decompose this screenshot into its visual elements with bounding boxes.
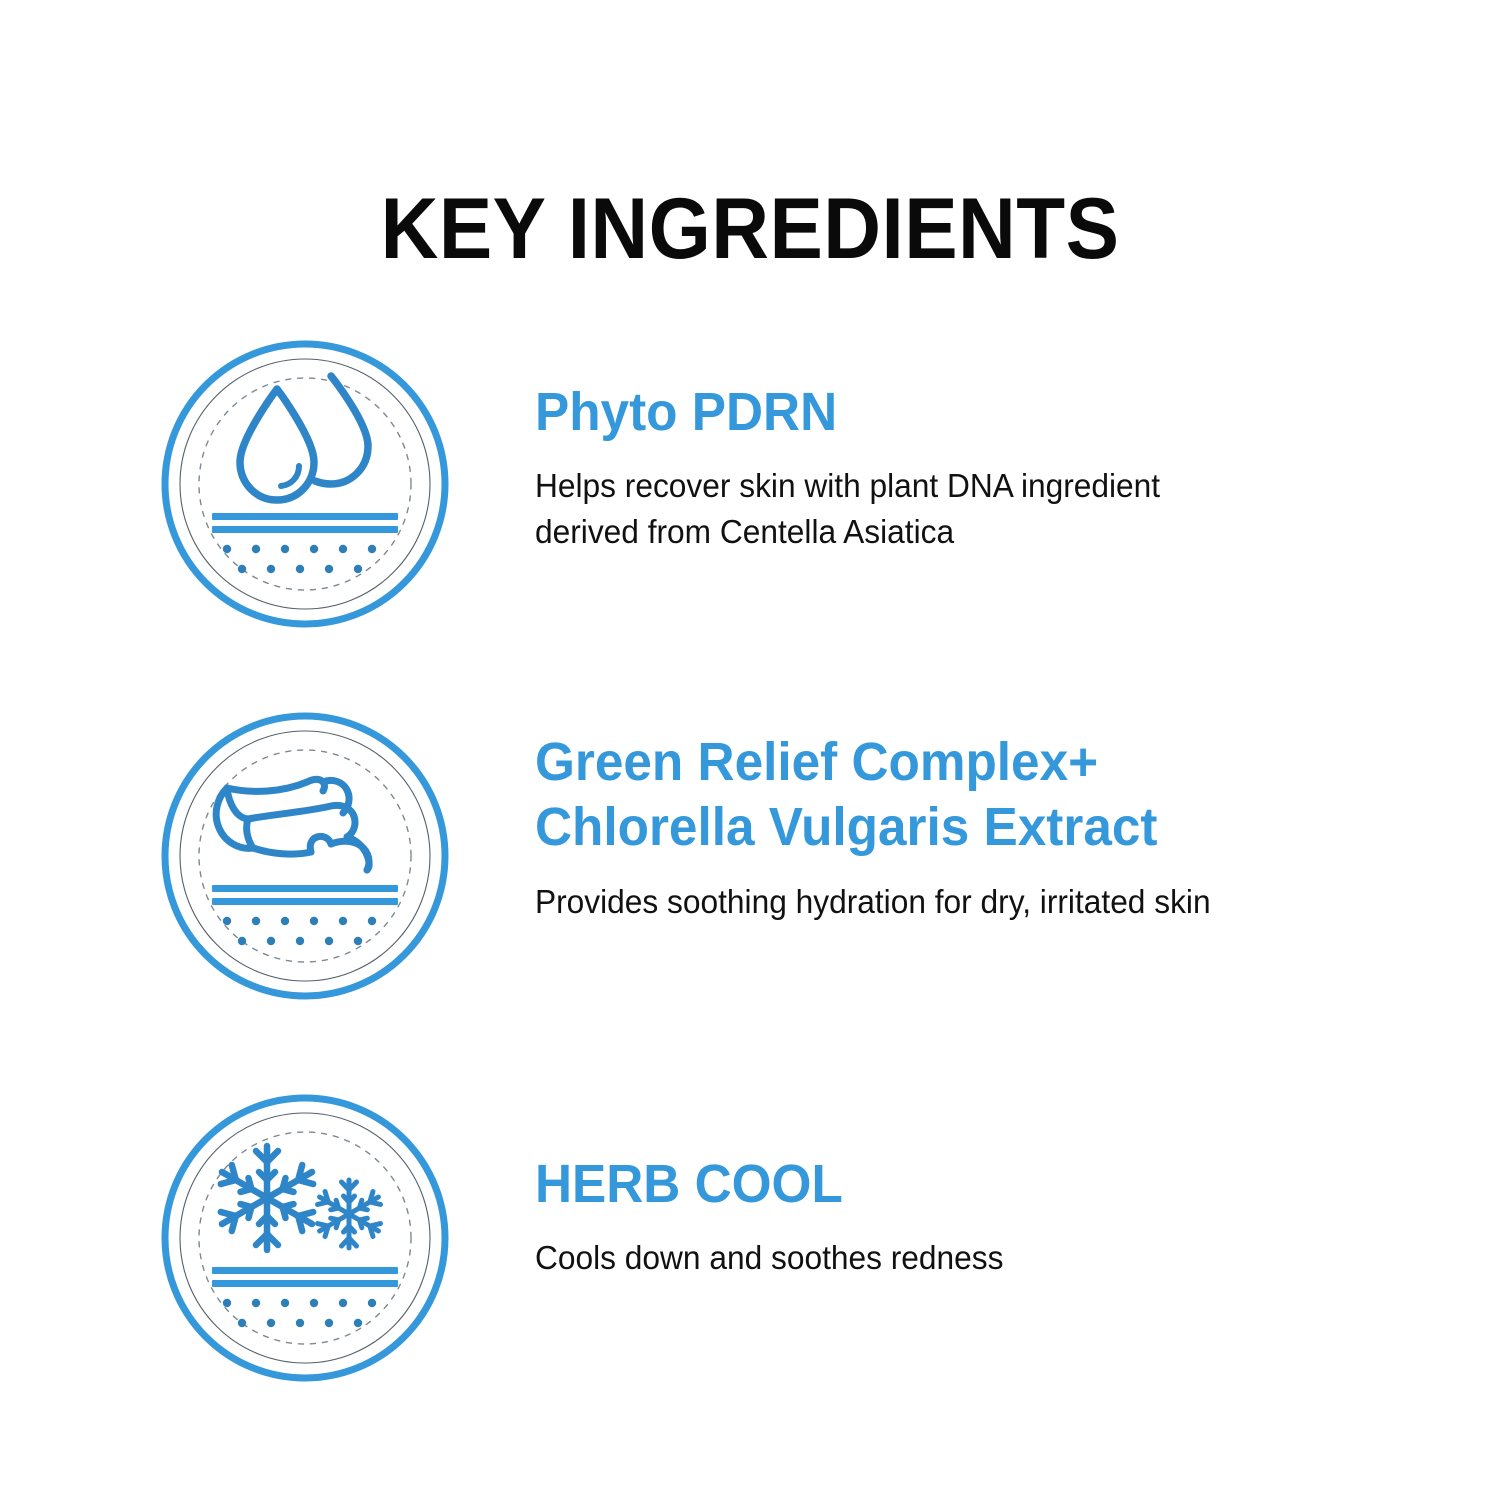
ingredient-title: Phyto PDRN [535,380,1154,445]
key-ingredients-page: KEY INGREDIENTS [0,0,1500,1500]
ingredient-text: HERB COOL Cools down and soothes redness [535,1074,1023,1281]
ingredient-text: Green Relief Complex+ Chlorella Vulgaris… [535,692,1239,924]
ingredient-description: Cools down and soothes redness [535,1235,1003,1280]
ingredient-title: HERB COOL [535,1152,999,1217]
ingredient-description: Helps recover skin with plant DNA ingred… [535,463,1160,553]
ingredient-description: Provides soothing hydration for dry, irr… [535,879,1211,924]
ingredient-title: Green Relief Complex+ Chlorella Vulgaris… [535,730,1204,861]
ingredient-list: Phyto PDRN Helps recover skin with plant… [0,320,1500,1374]
ingredient-item: Green Relief Complex+ Chlorella Vulgaris… [0,692,1500,1074]
ingredient-text: Phyto PDRN Helps recover skin with plant… [535,320,1186,554]
snowflakes-skin-layer-icon [155,1088,455,1388]
page-title: KEY INGREDIENTS [53,186,1448,272]
ingredient-item: Phyto PDRN Helps recover skin with plant… [0,320,1500,692]
ingredient-item: HERB COOL Cools down and soothes redness [0,1074,1500,1374]
water-droplets-skin-layer-icon [155,334,455,634]
leaf-feather-skin-layer-icon [155,706,455,1006]
